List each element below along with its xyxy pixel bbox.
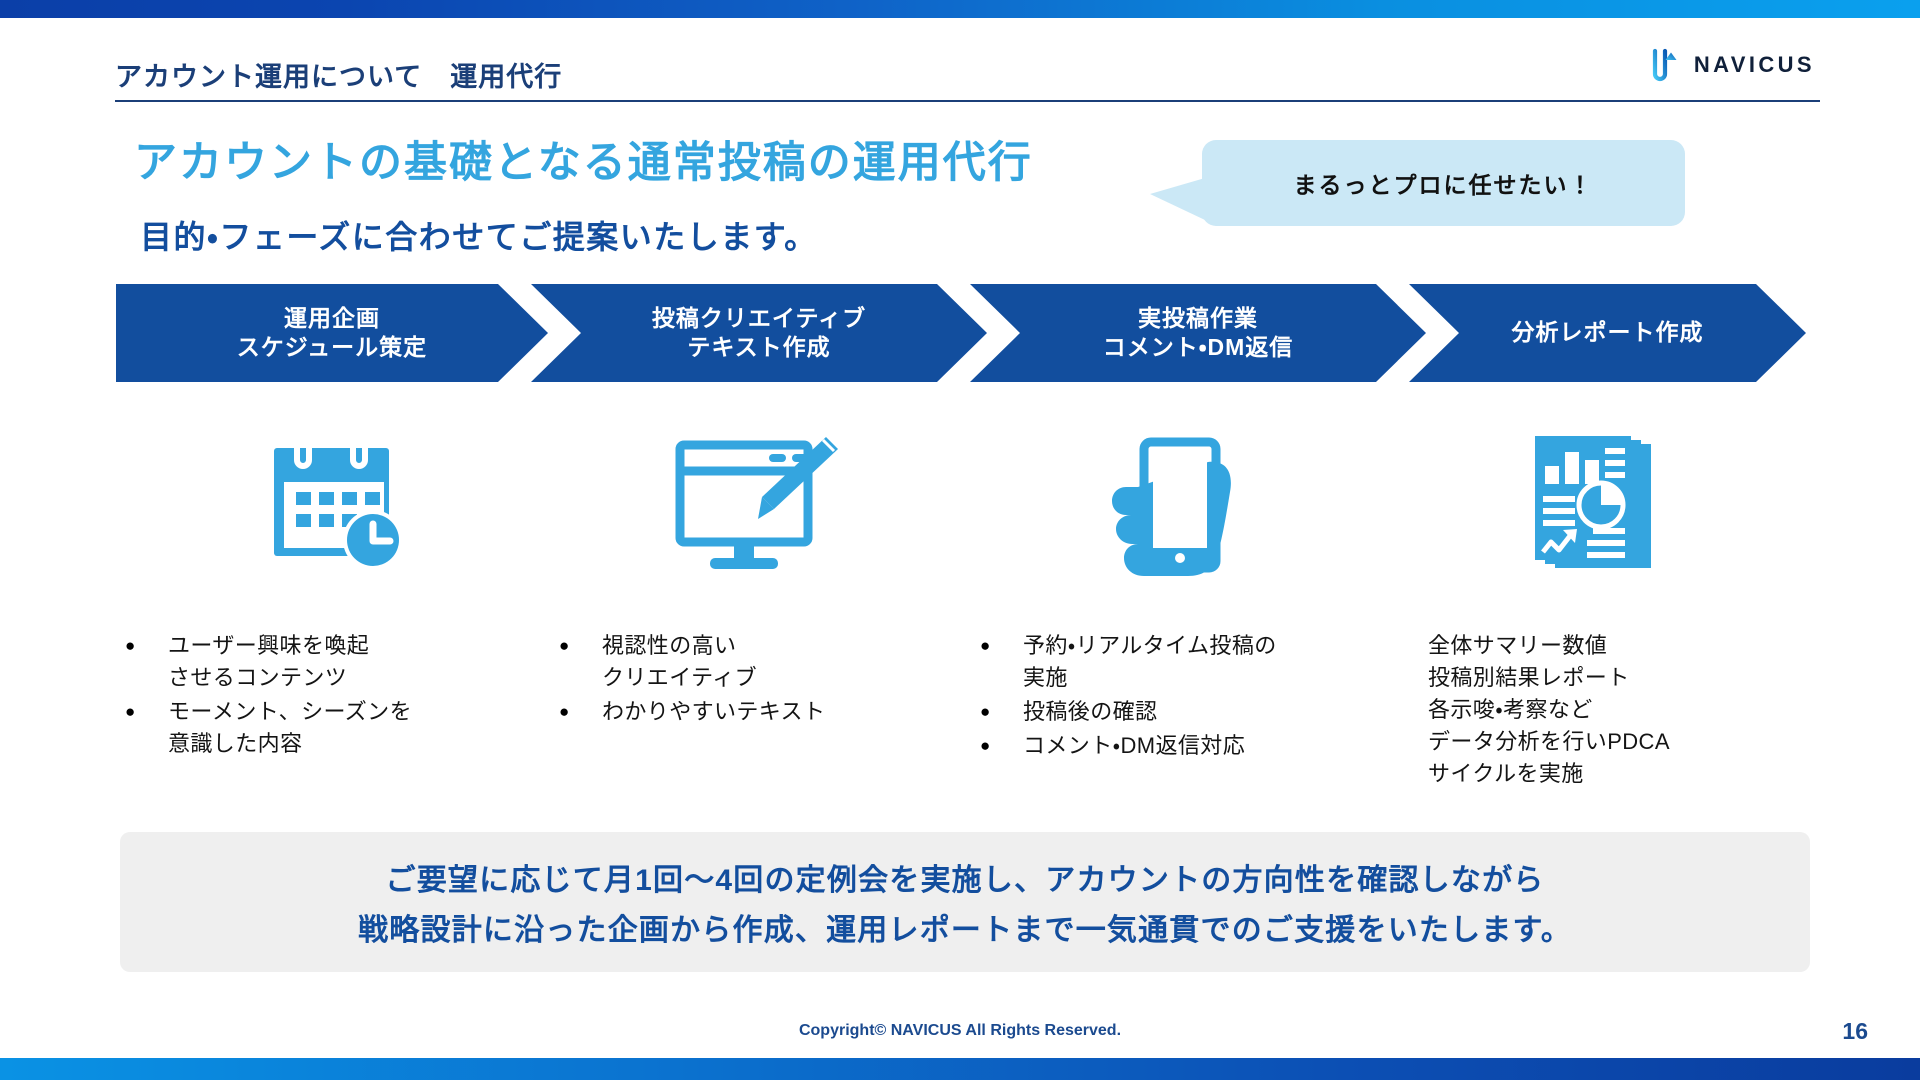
list-item-text: ユーザー興味を喚起 させるコンテンツ: [168, 630, 369, 694]
process-step-4: 分析レポート作成: [1409, 284, 1806, 382]
process-step-2: 投稿クリエイティブ テキスト作成: [531, 284, 987, 382]
bullet-dot-icon: ●: [971, 630, 1023, 662]
list-item-text: わかりやすいテキスト: [602, 696, 825, 728]
process-step-3: 実投稿作業 コメント・DM返信: [970, 284, 1426, 382]
process-step-2-line1: 投稿クリエイティブ: [652, 304, 866, 333]
list-item-text: 予約・リアルタイム投稿の 実施: [1023, 630, 1277, 694]
monitor-paintbrush-icon: [666, 435, 841, 575]
icon-cell-planning: [204, 410, 454, 600]
list-item-text: 視認性の高い クリエイティブ: [602, 630, 757, 694]
navicus-arrow-logo-icon: [1651, 47, 1685, 83]
bottom-gradient-bar: [0, 1058, 1920, 1080]
header-title: アカウント運用について 運用代行: [115, 55, 562, 94]
list-item-text: サイクルを実施: [1428, 758, 1828, 790]
callout-bubble-tail: [1150, 178, 1205, 220]
summary-banner: ご要望に応じて月1回〜4回の定例会を実施し、アカウントの方向性を確認しながら 戦…: [120, 832, 1810, 972]
process-step-1: 運用企画 スケジュール策定: [116, 284, 548, 382]
list-item-text: 各示唆・考察など: [1428, 694, 1828, 726]
list-item: ● 視認性の高い クリエイティブ: [550, 630, 930, 694]
list-item: ● ユーザー興味を喚起 させるコンテンツ: [116, 630, 536, 694]
detail-column-2: ● 視認性の高い クリエイティブ ● わかりやすいテキスト: [550, 630, 930, 730]
copyright-text: Copyright© NAVICUS All Rights Reserved.: [0, 1022, 1920, 1040]
top-gradient-bar: [0, 0, 1920, 18]
process-step-1-line1: 運用企画: [284, 304, 380, 333]
process-flow: 運用企画 スケジュール策定 投稿クリエイティブ テキスト作成 実投稿作業 コメン…: [116, 284, 1806, 382]
page-subtitle: 目的・フェーズに合わせてご提案いたします。: [140, 212, 818, 258]
process-step-3-line2: コメント・DM返信: [1103, 333, 1294, 362]
calendar-clock-icon: [249, 430, 409, 580]
bullet-dot-icon: ●: [116, 696, 168, 728]
icon-cell-creative: [628, 410, 878, 600]
list-item-text: データ分析を行いPDCA: [1428, 726, 1828, 758]
list-item: ● 投稿後の確認: [971, 696, 1371, 728]
bullet-dot-icon: ●: [971, 730, 1023, 762]
summary-banner-line2: 戦略設計に沿った企画から作成、運用レポートまで一気通貫でのご支援をいたします。: [358, 905, 1572, 949]
bullet-dot-icon: ●: [550, 630, 602, 662]
detail-column-4: 全体サマリー数値 投稿別結果レポート 各示唆・考察など データ分析を行いPDCA…: [1428, 630, 1828, 790]
icon-cell-posting: [1046, 410, 1296, 600]
callout-bubble: まるっとプロに任せたい！: [1202, 140, 1685, 226]
icon-row: [116, 410, 1806, 600]
list-item: ● 予約・リアルタイム投稿の 実施: [971, 630, 1371, 694]
detail-column-1: ● ユーザー興味を喚起 させるコンテンツ ● モーメント、シーズンを 意識した内…: [116, 630, 536, 762]
report-charts-icon: [1521, 430, 1671, 580]
summary-banner-line1: ご要望に応じて月1回〜4回の定例会を実施し、アカウントの方向性を確認しながら: [386, 855, 1545, 899]
bullet-dot-icon: ●: [550, 696, 602, 728]
process-step-4-line1: 分析レポート作成: [1512, 318, 1704, 347]
process-step-2-line2: テキスト作成: [687, 333, 830, 362]
list-item-text: 投稿別結果レポート: [1428, 662, 1828, 694]
list-item: ● わかりやすいテキスト: [550, 696, 930, 728]
list-item-text: コメント・DM返信対応: [1023, 730, 1245, 762]
list-item: ● モーメント、シーズンを 意識した内容: [116, 696, 536, 760]
bullet-dot-icon: ●: [116, 630, 168, 662]
list-item-text: 全体サマリー数値: [1428, 630, 1828, 662]
list-item-text: 投稿後の確認: [1023, 696, 1157, 728]
process-step-3-line1: 実投稿作業: [1138, 304, 1258, 333]
icon-cell-report: [1471, 410, 1721, 600]
detail-column-3: ● 予約・リアルタイム投稿の 実施 ● 投稿後の確認 ● コメント・DM返信対応: [971, 630, 1371, 764]
header-divider: [115, 100, 1820, 102]
page-title: アカウントの基礎となる通常投稿の運用代行: [134, 128, 1033, 190]
hand-smartphone-icon: [1096, 430, 1246, 580]
bullet-dot-icon: ●: [971, 696, 1023, 728]
callout-bubble-text: まるっとプロに任せたい！: [1294, 166, 1594, 200]
navicus-logo: NAVICUS: [1651, 47, 1815, 83]
slide-header: アカウント運用について 運用代行 NAVICUS: [115, 55, 1815, 94]
list-item: ● コメント・DM返信対応: [971, 730, 1371, 762]
process-step-1-line2: スケジュール策定: [237, 333, 427, 362]
page-number: 16: [1842, 1018, 1868, 1045]
list-item-text: モーメント、シーズンを 意識した内容: [168, 696, 412, 760]
logo-wordmark: NAVICUS: [1694, 52, 1815, 78]
